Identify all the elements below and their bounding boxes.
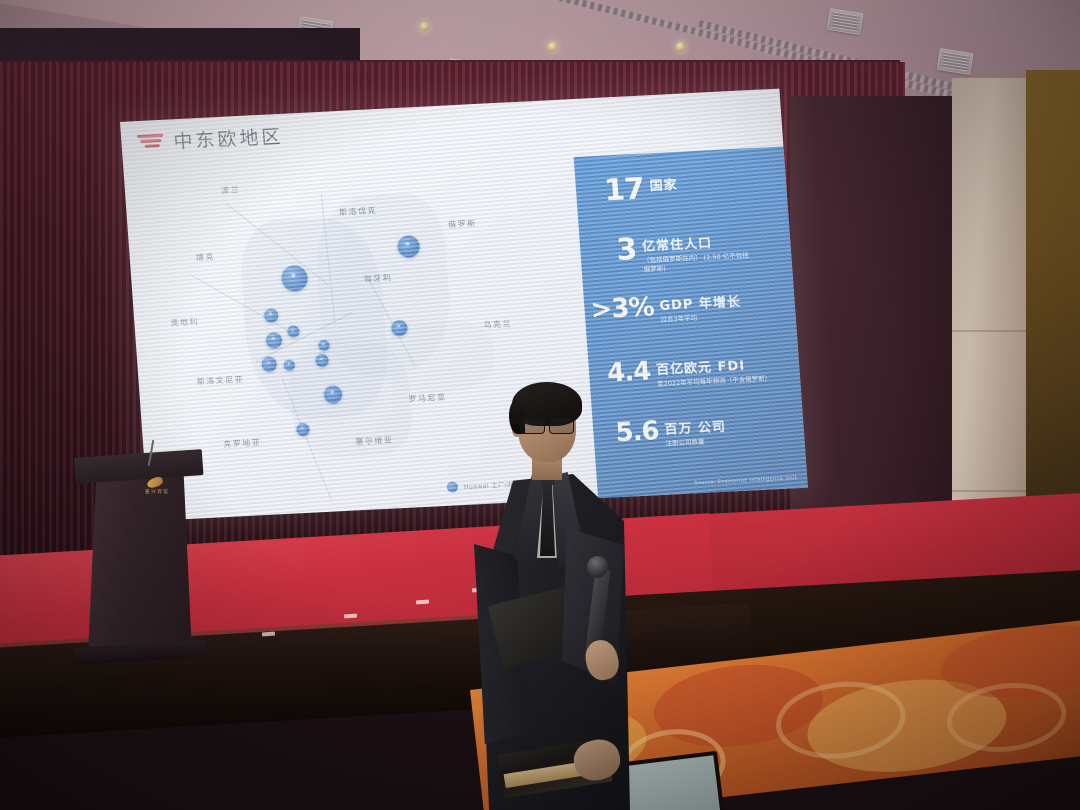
statistic-row: 3亿常住人口（包括俄罗斯在内） (1.50 亿不包括俄罗斯) — [615, 230, 756, 276]
statistic-unit-label: 国家 — [649, 179, 678, 195]
statistic-row: 17国家 — [603, 174, 679, 206]
pillar-seam — [952, 330, 1030, 332]
map-country-label: 斯洛伐克 — [339, 205, 378, 218]
map-country-label: 奥地利 — [170, 316, 199, 328]
map-country-label: 匈牙利 — [363, 272, 392, 284]
statistic-text-column: 国家 — [649, 174, 678, 195]
stage-floor-marker — [262, 632, 275, 637]
stage-floor-marker — [416, 600, 429, 605]
legend-marker-icon — [447, 481, 459, 493]
map-country-label: 捷克 — [196, 251, 216, 263]
emblem-leaf-icon — [146, 476, 164, 490]
podium-emblem-text: 嘉兴宾馆 — [145, 489, 169, 495]
pillar-seam — [952, 490, 1030, 492]
statistics-list: 17国家3亿常住人口（包括俄罗斯在内） (1.50 亿不包括俄罗斯)>3%GDP… — [574, 146, 784, 157]
statistic-subnote: 过去3年平均 — [660, 312, 742, 325]
statistic-value: 17 — [603, 176, 645, 206]
statistic-unit-label: 百万 公司 — [664, 421, 726, 438]
statistic-subnote: 注册公司数量 — [665, 437, 727, 449]
statistic-value: >3% — [590, 295, 655, 323]
map-country-label: 塞尔维亚 — [355, 435, 394, 448]
podium-body — [88, 474, 192, 654]
statistic-value: 3 — [615, 236, 637, 265]
slide-title: 中东欧地区 — [173, 122, 285, 154]
ceiling-spotlight — [548, 42, 557, 51]
projection-screen: 中东欧地区 波兰斯洛伐克俄罗斯捷克匈牙利奥地利乌克兰斯洛文尼亚罗马尼亚克罗地亚塞… — [120, 89, 808, 521]
statistic-row: >3%GDP 年增长过去3年平均 — [590, 291, 742, 329]
statistic-subnote: （包括俄罗斯在内） (1.50 亿不包括俄罗斯) — [643, 251, 756, 274]
stage-floor-marker — [344, 614, 357, 619]
presenter-glasses — [518, 418, 576, 433]
map-country-label: 斯洛文尼亚 — [196, 374, 244, 387]
glasses-bridge — [543, 423, 549, 425]
podium-emblem: 嘉兴宾馆 — [145, 478, 171, 498]
ceiling-spotlight — [420, 22, 429, 31]
map-country-label: 俄罗斯 — [448, 218, 477, 230]
conference-photo-scene: 中东欧地区 波兰斯洛伐克俄罗斯捷克匈牙利奥地利乌克兰斯洛文尼亚罗马尼亚克罗地亚塞… — [0, 0, 1080, 810]
statistic-text-column: 百万 公司注册公司数量 — [664, 416, 728, 449]
statistic-unit-label: GDP 年增长 — [659, 296, 741, 314]
presenter — [470, 378, 660, 810]
map-country-label: 克罗地亚 — [223, 437, 262, 450]
statistic-text-column: 亿常住人口（包括俄罗斯在内） (1.50 亿不包括俄罗斯) — [641, 230, 756, 274]
map-country-label: 乌克兰 — [483, 318, 512, 330]
glasses-lens-left — [520, 418, 545, 434]
map-country-label: 罗马尼亚 — [408, 392, 447, 405]
ceiling-spotlight — [676, 42, 685, 51]
statistics-source: Source: Economist Intelligence Unit — [694, 475, 797, 486]
map-country-label: 波兰 — [221, 184, 241, 196]
huawei-arc-logo-icon — [137, 134, 164, 151]
slide: 中东欧地区 波兰斯洛伐克俄罗斯捷克匈牙利奥地利乌克兰斯洛文尼亚罗马尼亚克罗地亚塞… — [120, 89, 808, 521]
glasses-lens-right — [549, 418, 574, 434]
statistic-text-column: GDP 年增长过去3年平均 — [659, 291, 743, 325]
statistic-text-column: 百亿欧元 FDI至2022年平均每年预测（不含俄罗斯） — [655, 353, 769, 389]
